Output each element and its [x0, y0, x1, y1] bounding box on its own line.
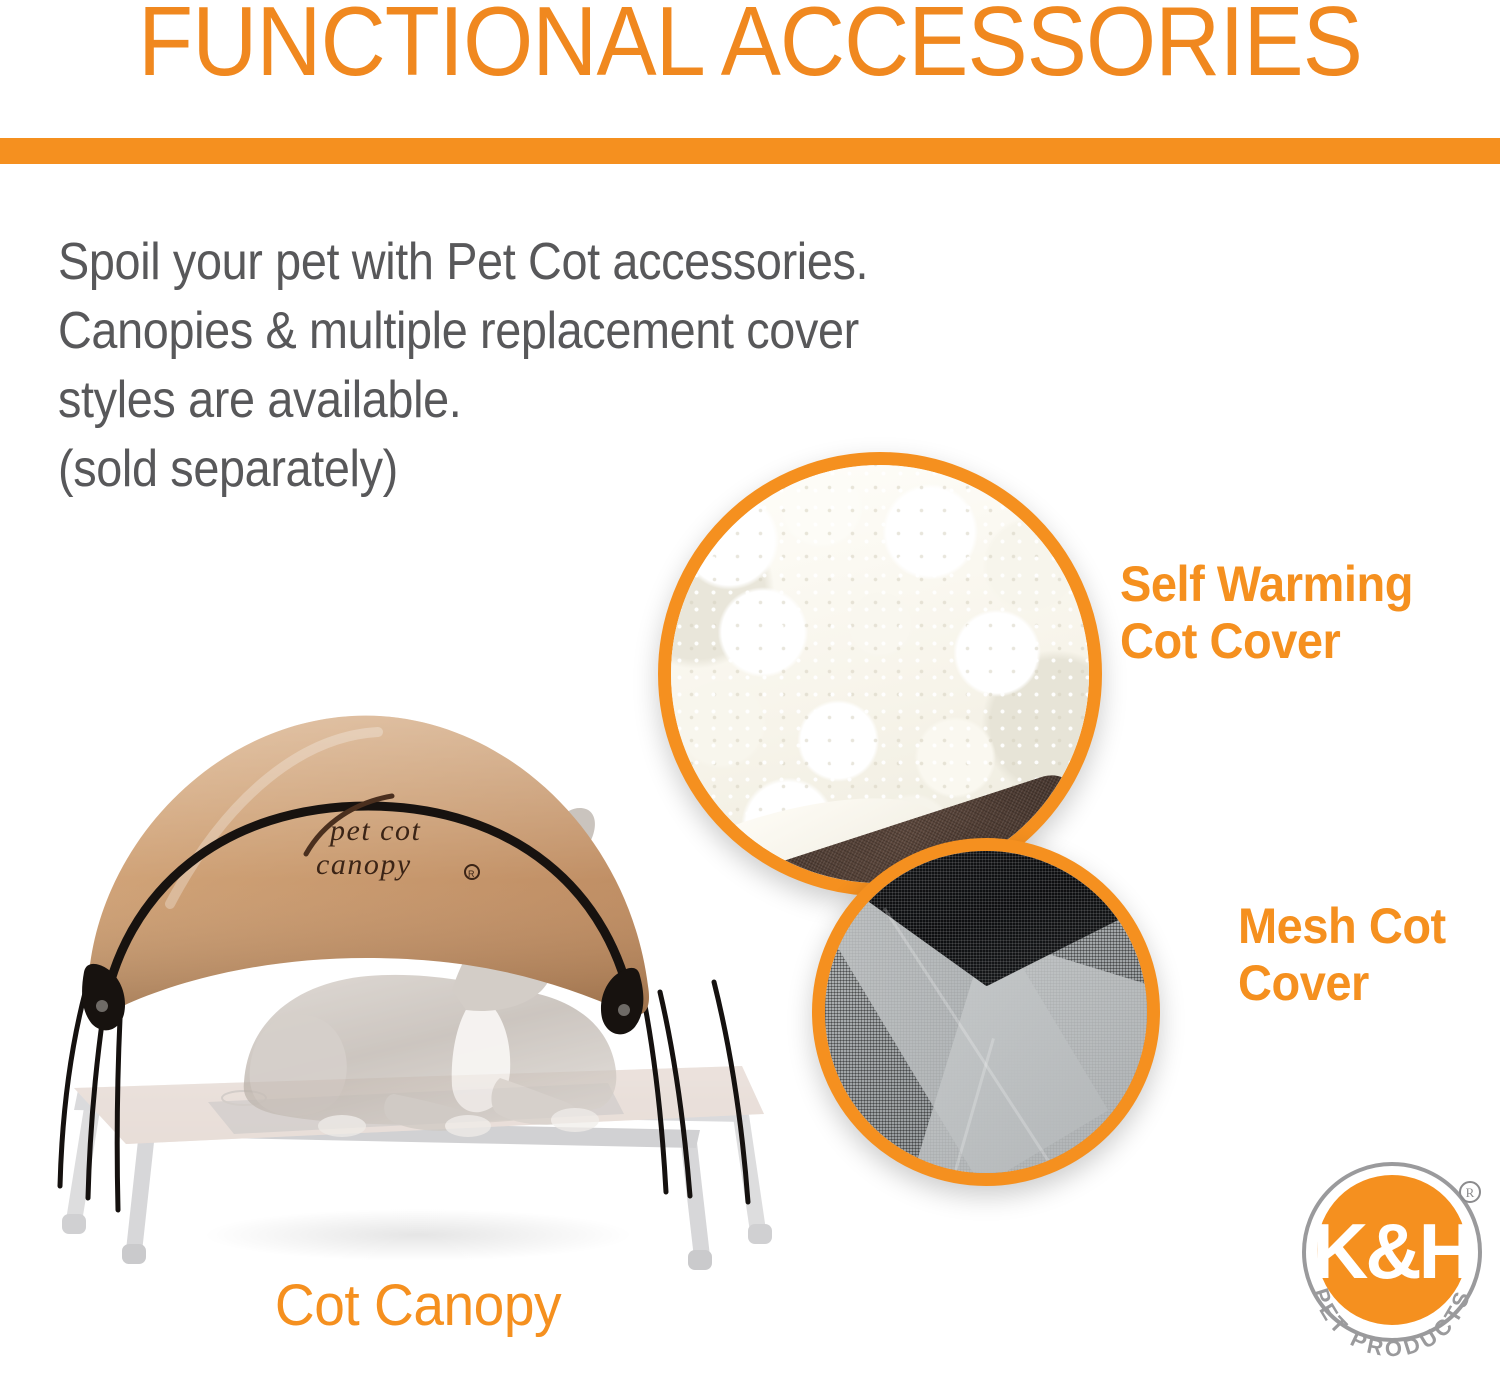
header-divider-rule: [0, 138, 1500, 164]
canopy-rivet-right: [618, 1004, 630, 1016]
callout-label-mesh-cot-cover: Mesh Cot Cover: [1238, 898, 1492, 1012]
callout-label-self-warming-cot-cover: Self Warming Cot Cover: [1120, 556, 1477, 670]
svg-text:canopy: canopy: [316, 848, 412, 881]
brand-logo-kh-pet-products: K&H R PET PRODUCTS: [1294, 1152, 1490, 1358]
label-line-2: Cot Cover: [1120, 613, 1477, 670]
registered-trademark-icon: R: [1460, 1182, 1480, 1202]
page-title: FUNCTIONAL ACCESSORIES: [60, 0, 1440, 96]
svg-text:pet cot: pet cot: [328, 814, 421, 847]
intro-line-1: Spoil your pet with Pet Cot accessories.: [58, 228, 634, 297]
callout-photo-self-warming-cot-cover: [658, 452, 1102, 896]
label-line-1: Mesh Cot: [1238, 898, 1492, 955]
floor-shadow: [203, 1209, 633, 1261]
callout-photo-mesh-cot-cover: [812, 838, 1160, 1186]
intro-line-4: (sold separately): [58, 435, 634, 504]
canopy-rivet-left: [96, 1000, 108, 1012]
caption-cot-canopy: Cot Canopy: [67, 1272, 770, 1339]
label-line-1: Self Warming: [1120, 556, 1477, 613]
intro-line-2: Canopies & multiple replacement cover: [58, 297, 634, 366]
intro-line-3: styles are available.: [58, 366, 634, 435]
logo-monogram: K&H: [1312, 1207, 1472, 1295]
svg-text:R: R: [1466, 1185, 1475, 1200]
svg-text:R: R: [468, 869, 475, 879]
intro-paragraph: Spoil your pet with Pet Cot accessories.…: [58, 228, 634, 505]
label-line-2: Cover: [1238, 955, 1492, 1012]
